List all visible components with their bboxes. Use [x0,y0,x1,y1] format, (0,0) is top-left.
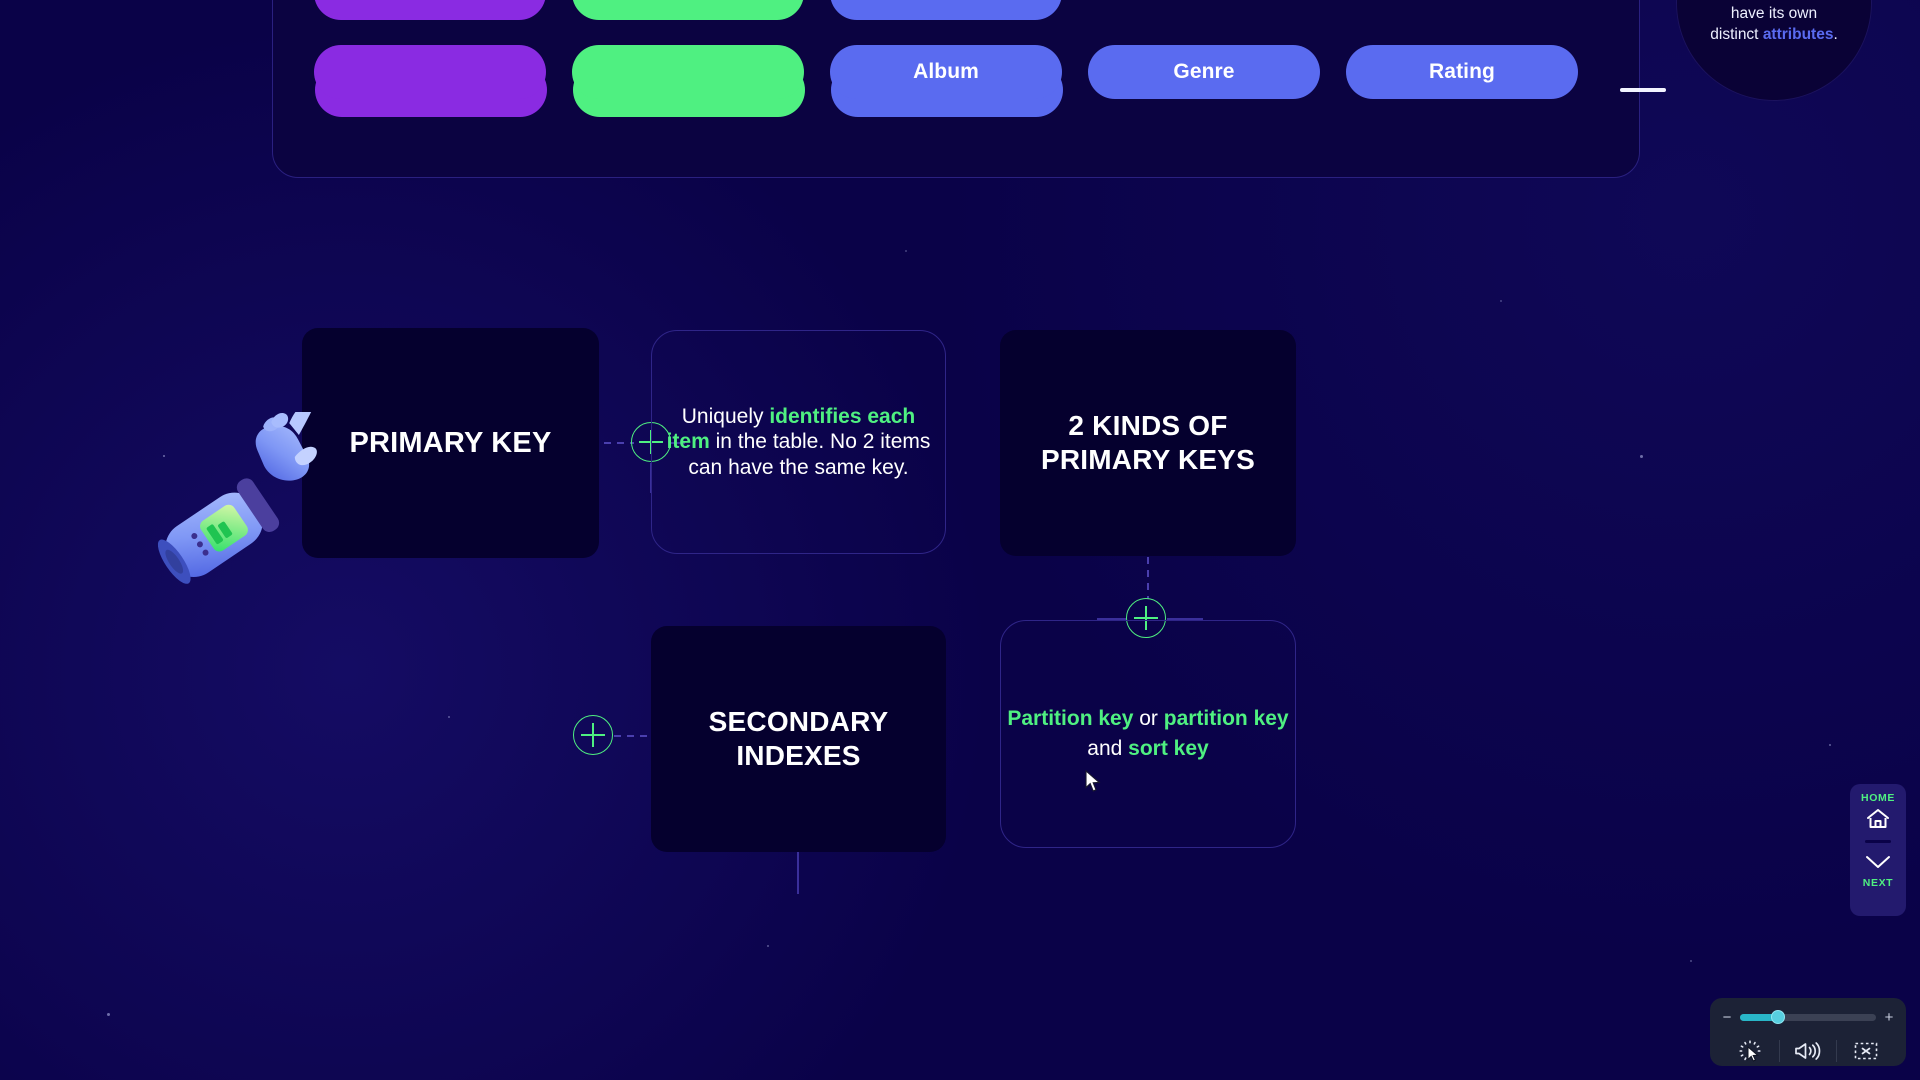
close-box-icon [1852,1039,1880,1063]
cursor-select-button[interactable] [1722,1036,1779,1066]
connector-primary-to-plus [604,442,634,444]
diagram-canvas: Album Genre Rating ITEMS: Each item can … [0,0,1920,1080]
card-two-kinds-line2: PRIMARY KEYS [1041,443,1255,477]
items-callout-accent: attributes [1763,26,1834,43]
items-connector-line [1620,88,1666,92]
card-partition-key-text: Partition key or partition key and sort … [1001,704,1295,764]
pk-desc-seg1: Uniquely [682,405,770,428]
speaker-volume-icon [1793,1039,1823,1063]
pill-attribute-rating[interactable]: Rating [1346,45,1578,99]
card-primary-key-description[interactable]: Uniquely identifies each item in the tab… [651,330,946,554]
zoom-slider-knob[interactable] [1771,1010,1785,1024]
pill-attribute-genre[interactable]: Genre [1088,45,1320,99]
card-two-kinds-of-primary-keys[interactable]: 2 KINDS OF PRIMARY KEYS [1000,330,1296,556]
pill-attribute-c[interactable] [830,0,1062,20]
presentation-nav-rail: HOME NEXT [1850,784,1906,916]
items-callout-line3: distinct attributes. [1710,24,1838,45]
control-button-row [1722,1036,1894,1066]
connector-plus3-to-secondary [614,735,647,737]
card-two-kinds-line1: 2 KINDS OF [1041,409,1255,443]
card-secondary-line1: SECONDARY [709,705,889,739]
pill-attribute-b[interactable] [572,0,804,20]
zoom-out-button[interactable]: − [1722,1010,1732,1025]
mouse-cursor [1085,770,1103,794]
cursor-select-icon [1737,1038,1763,1064]
items-callout-bubble: ITEMS: Each item can have its own distin… [1676,0,1872,101]
pill-row-clipped [314,0,1062,20]
connector-secondary-down [797,852,799,894]
card-partition-key[interactable]: Partition key or partition key and sort … [1000,620,1296,848]
nav-next-button[interactable] [1863,847,1893,877]
pill-attribute-a[interactable] [314,0,546,20]
connector-twokinds-down [1147,557,1149,599]
card-primary-key-description-text: Uniquely identifies each item in the tab… [652,404,945,481]
pill-attribute-2[interactable] [572,45,804,99]
pill-attribute-album[interactable]: Album [830,45,1062,99]
card-secondary-line2: INDEXES [709,739,889,773]
nav-home-label: HOME [1861,792,1895,804]
partition-seg1: Partition key [1007,707,1133,730]
nav-next-label: NEXT [1863,877,1893,889]
volume-button[interactable] [1780,1036,1837,1066]
card-primary-key[interactable]: PRIMARY KEY [302,328,599,558]
card-secondary-indexes[interactable]: SECONDARY INDEXES [651,626,946,852]
nav-home-button[interactable] [1865,804,1891,834]
pk-desc-seg3: in the table. No 2 items can have the sa… [688,430,930,479]
card-two-kinds-title: 2 KINDS OF PRIMARY KEYS [1041,409,1255,477]
robot-arm-pointing-illustration [130,412,330,592]
pill-attribute-1[interactable] [314,45,546,99]
partition-seg2: or [1133,707,1163,730]
pill-row-attributes: Album Genre Rating [314,45,1578,99]
partition-seg5: sort key [1128,737,1209,760]
partition-seg3: partition key [1164,707,1289,730]
zoom-slider-row: − + [1722,1007,1894,1027]
card-secondary-indexes-title: SECONDARY INDEXES [709,705,889,773]
expand-plus-secondary-indexes[interactable] [573,715,613,755]
items-callout-line3-suffix: . [1833,26,1837,43]
chevron-down-icon [1863,853,1893,871]
nav-divider [1865,840,1891,843]
close-overlay-button[interactable] [1837,1036,1894,1066]
viewer-control-bar: − + [1710,998,1906,1066]
home-icon [1865,807,1891,831]
card-primary-key-title: PRIMARY KEY [349,427,551,460]
items-callout-line2: have its own [1710,3,1838,24]
partition-seg4: and [1087,737,1128,760]
zoom-slider-track[interactable] [1740,1014,1876,1021]
items-callout-line3-prefix: distinct [1710,26,1763,43]
zoom-in-button[interactable]: + [1884,1010,1894,1025]
